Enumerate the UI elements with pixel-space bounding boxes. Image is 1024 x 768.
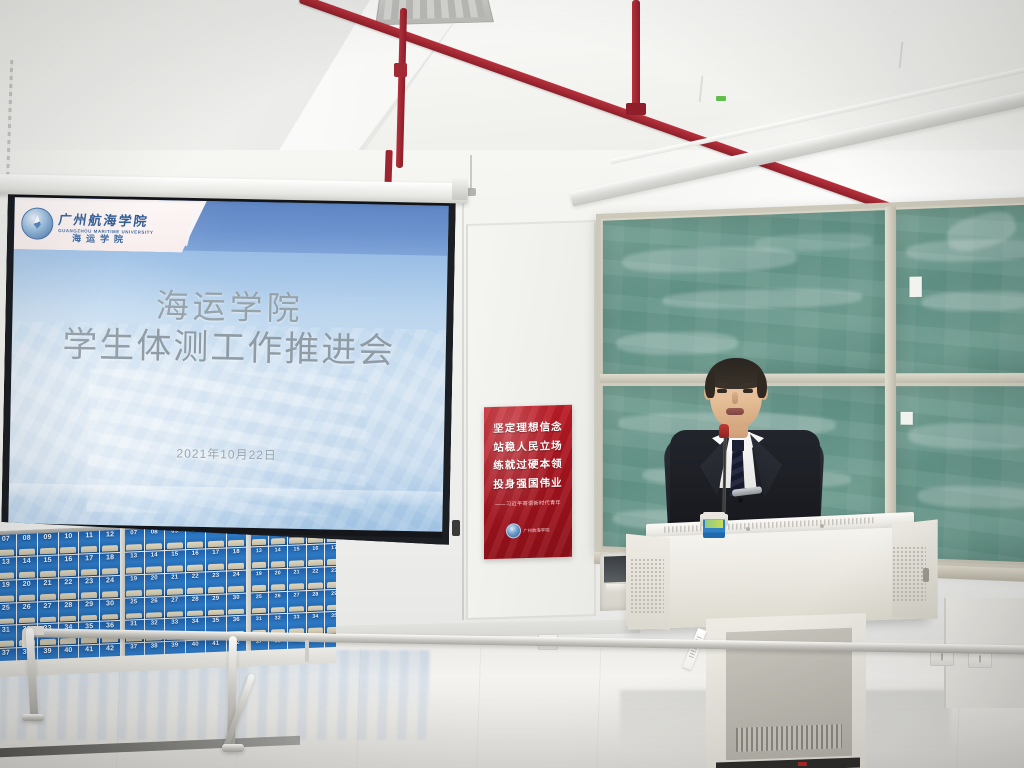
auditorium-seat: 25 xyxy=(0,603,16,626)
hair-side-right xyxy=(757,372,767,398)
seat-number: 34 xyxy=(312,614,318,620)
auditorium-seat: 22 xyxy=(59,577,79,600)
auditorium-seat: 22 xyxy=(186,572,206,595)
seat-number: 20 xyxy=(275,570,281,576)
seat-number: 27 xyxy=(43,602,51,609)
seat-number: 22 xyxy=(64,579,72,586)
auditorium-seat: 14 xyxy=(145,551,165,574)
seat-number: 31 xyxy=(256,616,262,622)
seat-number: 13 xyxy=(256,548,262,554)
emergency-light-led xyxy=(716,96,726,101)
auditorium-seat: 21 xyxy=(165,573,185,596)
auditorium-seat: 21 xyxy=(288,568,306,591)
seat-number: 16 xyxy=(192,550,199,556)
auditorium-seat: 29 xyxy=(206,594,226,617)
auditorium-seat: 23 xyxy=(325,566,336,589)
eyebrow-left xyxy=(716,383,729,386)
seat-number: 20 xyxy=(151,575,158,581)
auditorium-seat: 07 xyxy=(124,529,144,552)
seat-number: 23 xyxy=(331,567,336,573)
suit-button xyxy=(738,498,743,503)
auditorium-seat: 31 xyxy=(0,626,16,649)
seat-number: 39 xyxy=(171,643,178,649)
seat-block: 0708091011121314151617181920212223242526… xyxy=(124,525,246,666)
seat-number: 13 xyxy=(130,553,137,559)
seat-number: 23 xyxy=(212,572,219,578)
seat-number: 42 xyxy=(106,645,114,652)
lectern-screw xyxy=(746,527,750,531)
auditorium-seat: 12 xyxy=(100,530,120,553)
seat-number: 11 xyxy=(85,532,93,539)
seat-number: 37 xyxy=(2,650,10,657)
eye-right xyxy=(743,389,753,393)
seat-number: 14 xyxy=(23,557,31,564)
banner-attribution: ——习近平寄语新时代青年 xyxy=(495,499,561,508)
lecture-hall-photo: 广州航海学院 GUANGZHOU MARITIME UNIVERSITY 海运学… xyxy=(0,0,1024,768)
handrail-hook xyxy=(305,640,309,662)
seat-number: 16 xyxy=(64,556,72,563)
auditorium-seat: 18 xyxy=(100,553,120,576)
auditorium-seat: 26 xyxy=(17,602,37,625)
seat-number: 29 xyxy=(331,590,336,596)
seat-number: 14 xyxy=(151,552,158,558)
banner-line-4: 投身强国伟业 xyxy=(493,478,563,490)
seat-number: 21 xyxy=(293,569,299,575)
seat-number: 38 xyxy=(151,644,158,650)
seat-number: 28 xyxy=(312,591,318,597)
seat-number: 21 xyxy=(43,579,51,586)
seat-number: 30 xyxy=(106,600,114,607)
banner-line-3: 练就过硬本领 xyxy=(493,459,563,471)
projector-screen-housing-end xyxy=(452,178,468,200)
auditorium-seat: 07 xyxy=(0,534,16,557)
lectern-speaker-grille-right xyxy=(892,546,926,602)
necktie-knot xyxy=(730,440,745,451)
seat-number: 22 xyxy=(192,573,199,579)
fire-sprinkler-pipe-icon xyxy=(632,0,640,110)
seat-number: 31 xyxy=(130,622,137,628)
seat-number: 12 xyxy=(106,531,114,538)
slide-title-line-2: 学生体测工作推进会 xyxy=(11,323,446,374)
seat-number: 32 xyxy=(275,616,281,622)
auditorium-seat: 16 xyxy=(59,555,79,578)
seat-number: 25 xyxy=(256,593,262,599)
auditorium-seat: 14 xyxy=(269,546,287,569)
paper-cup-label xyxy=(705,520,723,528)
auditorium-seat: 20 xyxy=(145,574,165,597)
auditorium-seat: 24 xyxy=(227,570,247,593)
auditorium-seat: 28 xyxy=(307,590,325,613)
seat-number: 15 xyxy=(43,557,51,564)
recessed-ceiling-lamp-icon xyxy=(375,0,494,25)
auditorium-seat: 16 xyxy=(307,544,325,567)
auditorium-seat: 11 xyxy=(79,531,99,554)
lectern-vent-grille xyxy=(736,724,842,752)
seat-number: 13 xyxy=(2,558,10,565)
auditorium-seat: 25 xyxy=(124,597,144,620)
seat-number: 09 xyxy=(43,534,51,541)
seat-number: 24 xyxy=(106,577,114,584)
seat-number: 18 xyxy=(233,549,240,555)
auditorium-seat: 26 xyxy=(145,597,165,620)
auditorium-seat: 22 xyxy=(307,567,325,590)
auditorium-seat: 13 xyxy=(0,557,16,580)
banner-line-2: 站稳人民立场 xyxy=(493,441,563,453)
auditorium-seat: 24 xyxy=(100,576,120,599)
seat-number: 22 xyxy=(312,568,318,574)
seat-number: 16 xyxy=(312,545,318,551)
seat-number: 14 xyxy=(275,547,281,553)
banner-footer-logo: 广州航海学院 xyxy=(506,522,549,538)
seat-number: 24 xyxy=(233,572,240,578)
logo-institution-cn: 广州航海学院 xyxy=(57,214,154,229)
asset-tag-label xyxy=(682,628,706,670)
auditorium-seat: 13 xyxy=(250,547,268,570)
seat-number: 39 xyxy=(43,648,51,655)
wall-seam xyxy=(462,200,464,620)
auditorium-seat: 19 xyxy=(250,569,268,592)
seat-number: 17 xyxy=(331,545,336,551)
seat-number: 21 xyxy=(171,574,178,580)
seat-number: 07 xyxy=(130,530,137,536)
seat-block: 0708091011121314151617181920212223242526… xyxy=(0,530,120,671)
handrail-base-plate xyxy=(222,744,244,752)
handrail-base-plate xyxy=(22,714,44,721)
auditorium-seat: 20 xyxy=(17,579,37,602)
eyebrow-right xyxy=(742,383,755,386)
seat-number: 34 xyxy=(192,619,199,625)
auditorium-seat: 19 xyxy=(124,575,144,598)
auditorium-seat: 29 xyxy=(325,589,336,612)
seat-number: 08 xyxy=(151,529,158,535)
seat-number: 27 xyxy=(293,592,299,598)
seat-number: 25 xyxy=(130,599,137,605)
seat-number: 19 xyxy=(2,581,10,588)
auditorium-seat: 15 xyxy=(38,555,58,578)
seat-number: 31 xyxy=(2,627,10,634)
auditorium-seat: 35 xyxy=(325,612,336,635)
slide-title: 海运学院 学生体测工作推进会 xyxy=(11,283,447,374)
chalkboard-tape-marker xyxy=(901,412,913,425)
seat-number: 33 xyxy=(293,615,299,621)
lectern-lock-icon[interactable] xyxy=(923,568,929,582)
slide-logo-plate: 广州航海学院 GUANGZHOU MARITIME UNIVERSITY 海运学… xyxy=(14,197,207,253)
presentation-slide: 广州航海学院 GUANGZHOU MARITIME UNIVERSITY 海运学… xyxy=(8,197,448,532)
auditorium-seat: 25 xyxy=(250,592,268,615)
microphone-icon[interactable] xyxy=(719,424,729,438)
auditorium-seat: 10 xyxy=(59,532,79,555)
auditorium-seat: 28 xyxy=(59,600,79,623)
banner-footer-org: 广州航海学院 xyxy=(523,527,549,534)
sprinkler-head-icon xyxy=(394,63,407,77)
seat-number: 17 xyxy=(212,550,219,556)
motivational-wall-banner: 坚定理想信念 站稳人民立场 练就过硬本领 投身强国伟业 ——习近平寄语新时代青年… xyxy=(484,405,572,559)
seat-number: 19 xyxy=(256,571,262,577)
seat-number: 30 xyxy=(233,594,240,600)
auditorium-seat: 30 xyxy=(100,598,120,621)
auditorium-seat: 17 xyxy=(79,554,99,577)
auditorium-seat: 29 xyxy=(79,599,99,622)
chalkboard-divider xyxy=(885,207,896,562)
auditorium-seat: 17 xyxy=(325,543,336,566)
auditorium-seat: 13 xyxy=(124,552,144,575)
seat-number: 41 xyxy=(85,646,93,653)
seat-number: 33 xyxy=(171,620,178,626)
auditorium-seat: 08 xyxy=(17,533,37,556)
seat-number: 35 xyxy=(212,618,219,624)
seat-number: 07 xyxy=(2,536,10,543)
auditorium-seat: 30 xyxy=(227,593,247,616)
pipe-joint xyxy=(626,103,646,115)
eye-left xyxy=(717,389,727,393)
projection-screen[interactable]: 广州航海学院 GUANGZHOU MARITIME UNIVERSITY 海运学… xyxy=(1,188,456,545)
seat-number: 40 xyxy=(192,642,199,648)
auditorium-seat: 19 xyxy=(0,580,16,603)
seat-number: 36 xyxy=(233,617,240,623)
seat-number: 32 xyxy=(151,621,158,627)
university-seal-emblem-icon xyxy=(21,207,54,240)
auditorium-seat: 27 xyxy=(38,601,58,624)
seat-number: 10 xyxy=(64,533,72,540)
seat-number: 27 xyxy=(171,597,178,603)
seat-number: 20 xyxy=(23,580,31,587)
chalkboard-panel xyxy=(603,210,886,377)
banner-line-1: 坚定理想信念 xyxy=(493,422,563,434)
seat-number: 26 xyxy=(275,593,281,599)
auditorium-seat: 15 xyxy=(165,550,185,573)
seat-number: 26 xyxy=(23,603,31,610)
auditorium-seat: 20 xyxy=(269,569,287,592)
seat-number: 15 xyxy=(171,551,178,557)
auditorium-seat: 27 xyxy=(165,596,185,619)
auditorium-seat: 26 xyxy=(269,591,287,614)
lectern-power-indicator xyxy=(798,762,807,766)
auditorium-seat: 23 xyxy=(206,571,226,594)
seat-number: 35 xyxy=(331,613,336,619)
lectern-front-body xyxy=(628,526,928,630)
nose xyxy=(732,392,738,404)
projector-screen-weight-bar xyxy=(452,520,460,536)
seat-number: 17 xyxy=(85,555,93,562)
seating-divider-post xyxy=(120,526,125,666)
seat-number: 18 xyxy=(106,554,114,561)
auditorium-seat: 17 xyxy=(206,548,226,571)
seat-number: 23 xyxy=(85,578,93,585)
auditorium-seat: 15 xyxy=(288,545,306,568)
seat-number: 15 xyxy=(293,546,299,552)
auditorium-seat: 34 xyxy=(307,613,325,636)
mouth xyxy=(726,408,744,415)
auditorium-seat: 08 xyxy=(145,528,165,551)
seat-number: 29 xyxy=(85,601,93,608)
seat-number: 08 xyxy=(23,535,31,542)
seat-number: 25 xyxy=(2,604,10,611)
seat-number: 28 xyxy=(192,596,199,602)
seat-number: 37 xyxy=(130,644,137,650)
auditorium-seat: 27 xyxy=(288,591,306,614)
auditorium-seat: 14 xyxy=(17,556,37,579)
seat-number: 29 xyxy=(212,595,219,601)
chalkboard-tape-marker xyxy=(909,276,921,297)
seat-number: 28 xyxy=(64,601,72,608)
seat-number: 19 xyxy=(130,576,137,582)
auditorium-seat: 23 xyxy=(79,576,99,599)
lectern-speaker-grille-left xyxy=(630,558,664,614)
screen-hook xyxy=(470,155,472,191)
seat-number: 40 xyxy=(64,647,72,654)
logo-department-cn: 海运学院 xyxy=(72,231,128,245)
seat-number: 41 xyxy=(212,641,219,647)
auditorium-seat: 16 xyxy=(186,549,206,572)
hair-side-left xyxy=(705,372,715,398)
auditorium-seat: 28 xyxy=(186,595,206,618)
auditorium-seat: 09 xyxy=(38,533,58,556)
seat-number: 26 xyxy=(151,598,158,604)
auditorium-seat: 18 xyxy=(227,547,247,570)
lectern-screw xyxy=(820,524,824,528)
university-seal-emblem-icon xyxy=(506,523,521,538)
auditorium-seat: 21 xyxy=(38,578,58,601)
